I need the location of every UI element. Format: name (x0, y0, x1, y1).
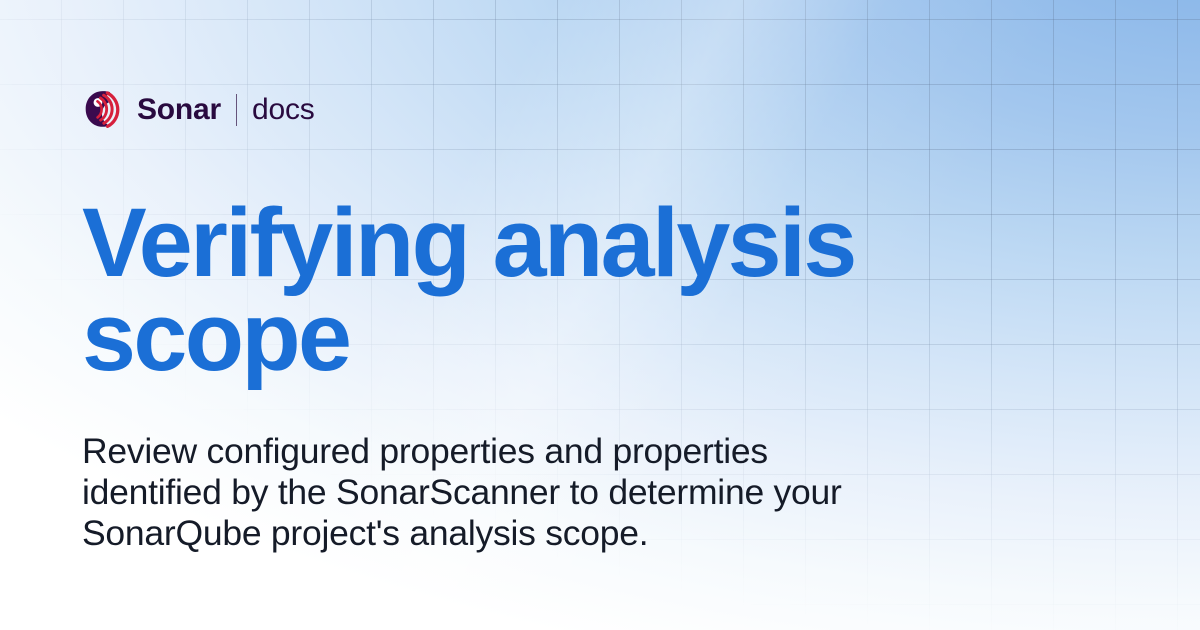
page-subtitle: Review configured properties and propert… (82, 431, 872, 554)
brand-lockup[interactable]: Sonar docs (82, 88, 315, 132)
brand-section-label: docs (252, 95, 315, 125)
page-title: Verifying analysis scope (82, 196, 942, 384)
card-content: Sonar docs Verifying analysis scope Revi… (0, 0, 1200, 630)
sonar-logo-icon (82, 89, 124, 131)
brand-divider (236, 94, 237, 126)
brand-name: Sonar (137, 95, 221, 125)
brand-wordmark: Sonar docs (137, 94, 315, 126)
social-share-card: Sonar docs Verifying analysis scope Revi… (0, 0, 1200, 630)
